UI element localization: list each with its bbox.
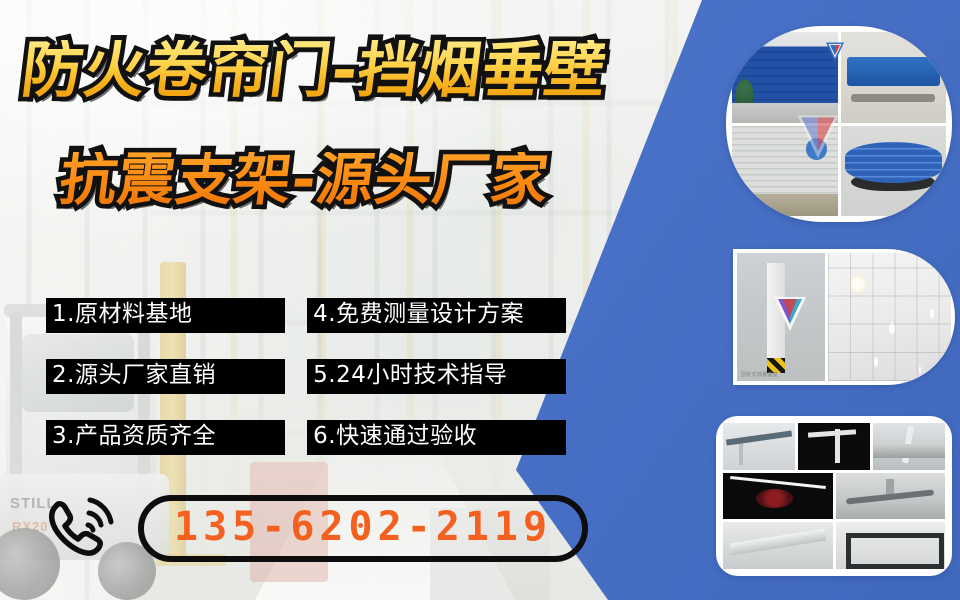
feature-item-5: 5.24小时技术指导 [307,359,566,394]
photo-ceiling-pipe-bracket [723,423,795,470]
photo-blue-coiled-drum [841,126,947,217]
feature-item-4: 4.免费测量设计方案 [307,298,566,333]
photo-bracket-clamp-dark [798,423,870,470]
feature-row-1: 1.原材料基地 4.免费测量设计方案 [46,298,566,333]
contact-phone-row[interactable]: 135-6202-2119 [44,492,588,564]
feature-row-2: 2.源头厂家直销 5.24小时技术指导 [46,359,566,394]
photo-blue-rolling-shutter-door [732,32,838,123]
photo-parking-garage-columns: 固定式挡烟垂壁 [737,253,825,381]
fire-shutter-door-collage[interactable] [726,26,952,222]
feature-row-3: 3.产品资质齐全 6.快速通过验收 [46,420,566,455]
feature-list: 1.原材料基地 4.免费测量设计方案 2.源头厂家直销 5.24小时技术指导 3… [46,298,566,481]
photo-duct-seismic-brace [723,522,833,569]
phone-call-icon [44,492,122,564]
photo-red-fan-ceiling-brace [723,473,833,520]
phone-number: 135-6202-2119 [174,504,552,550]
headline-primary: 防火卷帘门-挡烟垂壁 防火卷帘门-挡烟垂壁 防火卷帘门-挡烟垂壁 [22,40,606,101]
headline-secondary-fill: 抗震支架-源头厂家 [57,152,553,209]
photo-hvls-fan-support [836,473,946,520]
photo-shutter-production-line [841,32,947,123]
installation-site-collage[interactable]: 固定式挡烟垂壁 [733,249,955,385]
photo-suspended-ceiling-downlights [828,253,951,381]
photo-caption: 固定式挡烟垂壁 [741,371,778,378]
feature-item-3: 3.产品资质齐全 [46,420,285,455]
feature-item-6: 6.快速通过验收 [307,420,566,455]
phone-number-pill[interactable]: 135-6202-2119 [138,495,588,562]
seismic-bracket-collage[interactable] [716,416,952,576]
headline-primary-fill: 防火卷帘门-挡烟垂壁 [18,40,610,101]
feature-item-1: 1.原材料基地 [46,298,285,333]
headline-secondary: 抗震支架-源头厂家 抗震支架-源头厂家 抗震支架-源头厂家 [60,152,549,209]
feature-item-2: 2.源头厂家直销 [46,359,285,394]
photo-steel-frame-support [836,522,946,569]
poster-canvas: STILL RX20 防火卷帘门-挡烟垂壁 防火卷帘门-挡烟垂壁 防火卷帘门-挡… [0,0,960,600]
photo-steel-shutter-interior [732,126,838,217]
photo-pipe-clamp-support [873,423,945,470]
